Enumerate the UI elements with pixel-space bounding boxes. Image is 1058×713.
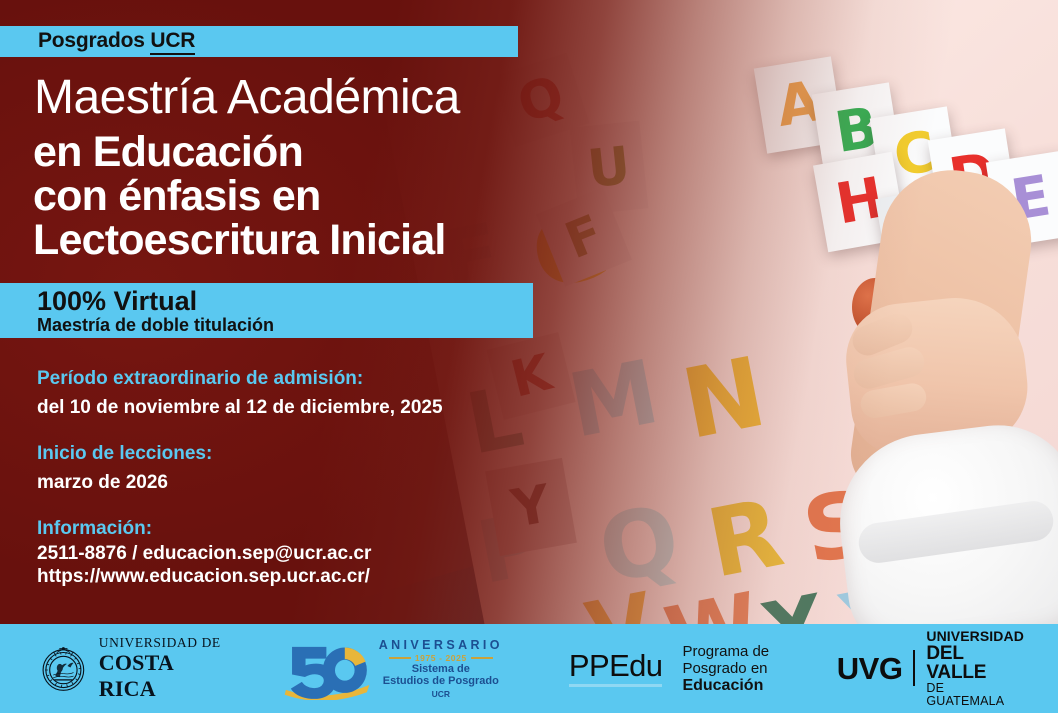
ucr-line-1: UNIVERSIDAD DE — [99, 635, 223, 651]
anniversary-wordmark: ANIVERSARIO 1975 - 2025 Sistema de Estud… — [379, 638, 503, 699]
uvg-description: UNIVERSIDAD DEL VALLE DE GUATEMALA — [926, 629, 1024, 708]
anniversary-years: 1975 - 2025 — [415, 653, 467, 663]
uvg-line-3: DE GUATEMALA — [926, 682, 1024, 708]
virtual-subline: Maestría de doble titulación — [37, 315, 274, 336]
kicker-prefix: Posgrados — [38, 29, 150, 52]
anniversary-fifty-icon — [281, 638, 373, 700]
admission-label: Período extraordinario de admisión: — [37, 368, 363, 390]
ppedu-line-1: Programa de Posgrado en — [682, 643, 836, 677]
title-line-4: Lectoescritura Inicial — [33, 216, 446, 265]
kicker-label: Posgrados UCR — [38, 29, 195, 53]
contact-phone-email[interactable]: 2511-8876 / educacion.sep@ucr.ac.cr — [37, 543, 371, 565]
sep-line-3: UCR — [379, 689, 503, 699]
ppedu-logo: PPEdu Programa de Posgrado en Educación — [569, 643, 837, 695]
uvg-wordmark: UVG — [837, 653, 903, 684]
ppedu-line-2: Educación — [682, 677, 836, 695]
title-line-1: Maestría Académica — [34, 70, 460, 125]
uvg-line-1: UNIVERSIDAD — [926, 629, 1024, 643]
uvg-divider — [913, 650, 915, 686]
kicker-brand: UCR — [150, 29, 195, 55]
title-line-2: en Educación — [33, 128, 303, 177]
start-label: Inicio de lecciones: — [37, 443, 212, 465]
anniversary-word: ANIVERSARIO — [379, 638, 503, 652]
ppedu-wordmark: PPEdu — [569, 650, 663, 687]
rule-left — [389, 657, 411, 659]
contact-website[interactable]: https://www.educacion.sep.ucr.ac.cr/ — [37, 566, 370, 588]
footer-logo-bar: UNIVERSIDAD DE COSTA RICA ANIVERSARIO — [0, 624, 1058, 713]
ucr-line-2: COSTA RICA — [99, 650, 223, 702]
ppedu-description: Programa de Posgrado en Educación — [682, 643, 836, 695]
uvg-line-2: DEL VALLE — [926, 644, 1024, 683]
admission-value: del 10 de noviembre al 12 de diciembre, … — [37, 397, 443, 419]
rule-right — [471, 657, 493, 659]
virtual-headline: 100% Virtual — [37, 286, 197, 317]
ucr-seal-icon — [38, 641, 89, 697]
sep-line-2: Estudios de Posgrado — [379, 676, 503, 688]
title-line-3: con énfasis en — [33, 172, 321, 221]
poster-content: Posgrados UCR Maestría Académica en Educ… — [0, 0, 1058, 713]
uvg-logo: UVG UNIVERSIDAD DEL VALLE DE GUATEMALA — [837, 629, 1024, 708]
ucr-logo: UNIVERSIDAD DE COSTA RICA — [0, 635, 223, 702]
promotional-poster: F M P Q G L N R S T U V W X Y Z A B — [0, 0, 1058, 713]
contact-label: Información: — [37, 518, 152, 540]
start-value: marzo de 2026 — [37, 472, 168, 494]
anniversary-logo: ANIVERSARIO 1975 - 2025 Sistema de Estud… — [281, 638, 503, 700]
ucr-wordmark: UNIVERSIDAD DE COSTA RICA — [99, 635, 223, 702]
